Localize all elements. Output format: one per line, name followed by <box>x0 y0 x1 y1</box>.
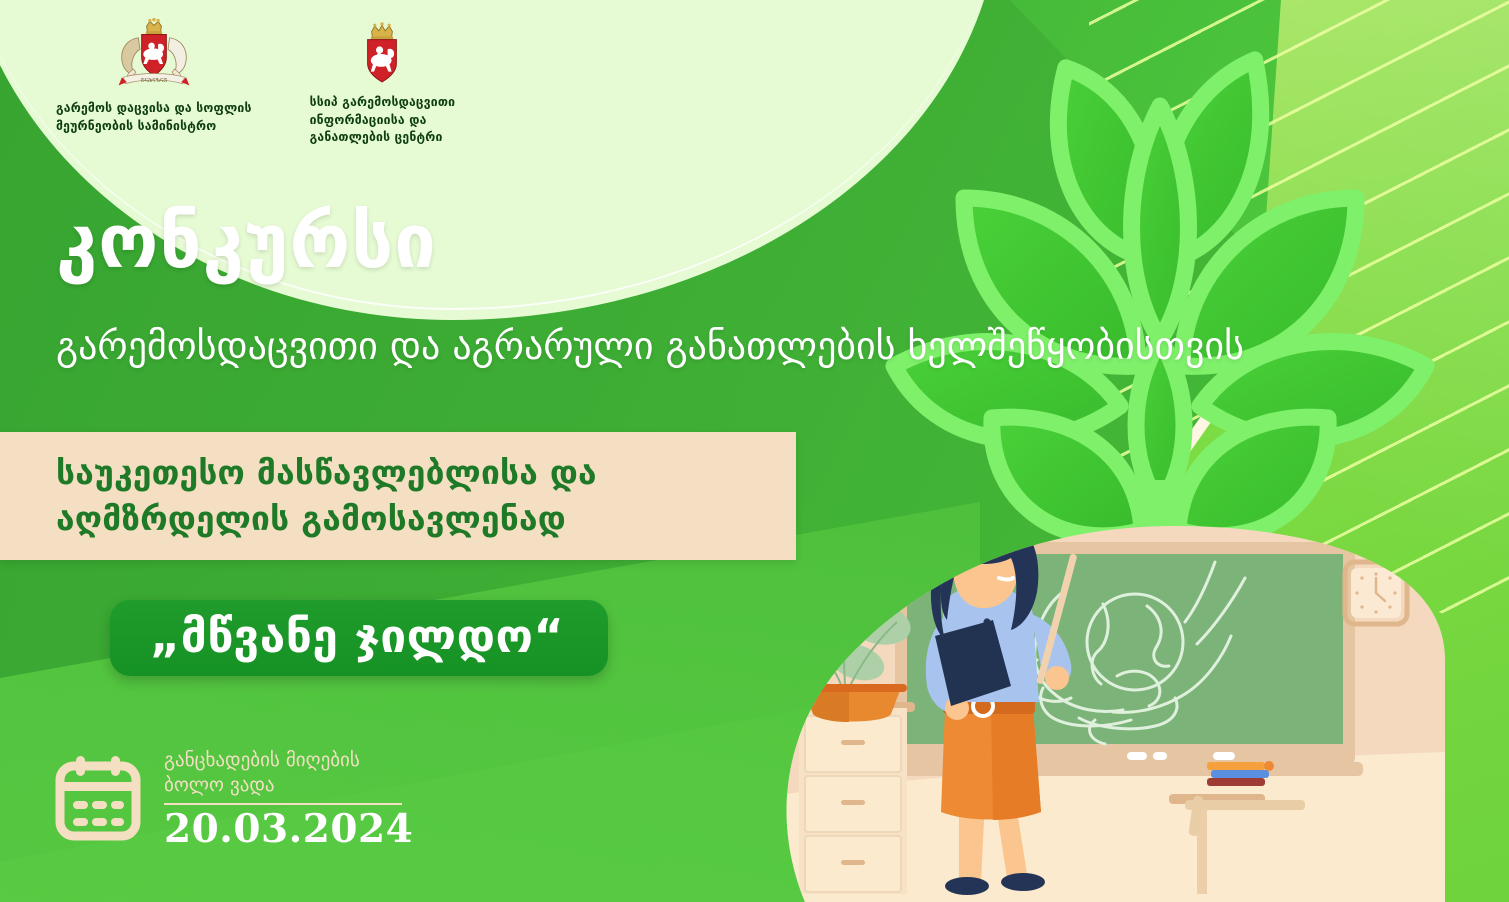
svg-text:ႣႠႫႠႪႠႣ: ႣႠႫႠႪႠႣ <box>140 78 167 84</box>
award-badge: „მწვანე ჯილდო“ <box>110 600 608 676</box>
deadline-block: განცხადების მიღების ბოლო ვადა 20.03.2024 <box>54 748 413 851</box>
highlight-banner-line-1: საუკეთესო მასწავლებლისა და <box>56 450 796 496</box>
highlight-banner: საუკეთესო მასწავლებლისა და აღმზრდელის გა… <box>0 432 796 560</box>
georgia-coat-of-arms-icon: ႣႠႫႠႪႠႣ <box>56 18 252 92</box>
deadline-date: 20.03.2024 <box>164 808 413 851</box>
logo-block-center: სსიპ გარემოსდაცვითი ინფორმაციისა და განა… <box>310 22 456 147</box>
deadline-label: განცხადების მიღების ბოლო ვადა <box>164 748 413 797</box>
page-title: კონკურსი <box>56 205 437 279</box>
calendar-icon <box>54 754 142 842</box>
shield-crown-emblem-icon <box>310 22 456 86</box>
poster-root: ႣႠႫႠႪႠႣ გარემოს დაცვისა და სოფლის მეურნე… <box>0 0 1509 902</box>
classroom-scene <box>745 500 1445 902</box>
deadline-divider <box>164 803 402 805</box>
highlight-banner-line-2: აღმზრდელის გამოსავლენად <box>56 496 796 542</box>
logo-label-ministry: გარემოს დაცვისა და სოფლის მეურნეობის სამ… <box>56 100 252 135</box>
page-subtitle: გარემოსდაცვითი და აგრარული განათლების ხე… <box>56 320 1244 374</box>
header-logos: ႣႠႫႠႪႠႣ გარემოს დაცვისა და სოფლის მეურნე… <box>56 18 455 147</box>
logo-block-ministry: ႣႠႫႠႪႠႣ გარემოს დაცვისა და სოფლის მეურნე… <box>56 18 252 135</box>
award-badge-label: „მწვანე ჯილდო“ <box>150 609 564 663</box>
deadline-text-group: განცხადების მიღების ბოლო ვადა 20.03.2024 <box>164 748 413 851</box>
logo-label-center: სსიპ გარემოსდაცვითი ინფორმაციისა და განა… <box>310 94 456 147</box>
